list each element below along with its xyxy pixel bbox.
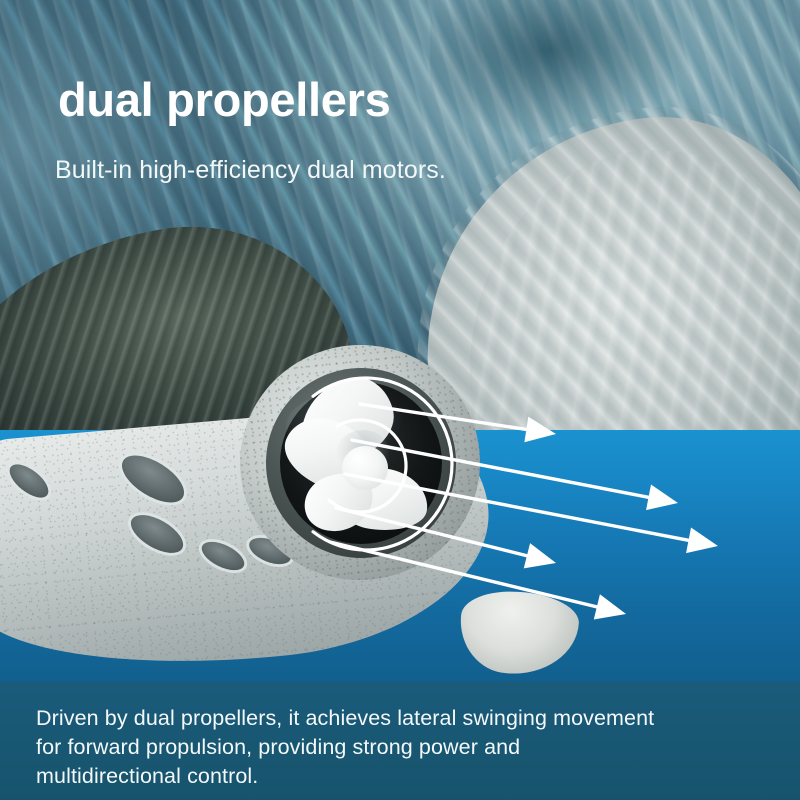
propeller-hub (342, 446, 388, 490)
page-subtitle: Built-in high-efficiency dual motors. (55, 158, 446, 183)
page-title: dual propellers (58, 76, 390, 123)
product-feature-image: dual propellers Built-in high-efficiency… (0, 0, 800, 800)
caption-text: Driven by dual propellers, it achieves l… (36, 704, 656, 791)
propeller-assembly (280, 376, 460, 556)
